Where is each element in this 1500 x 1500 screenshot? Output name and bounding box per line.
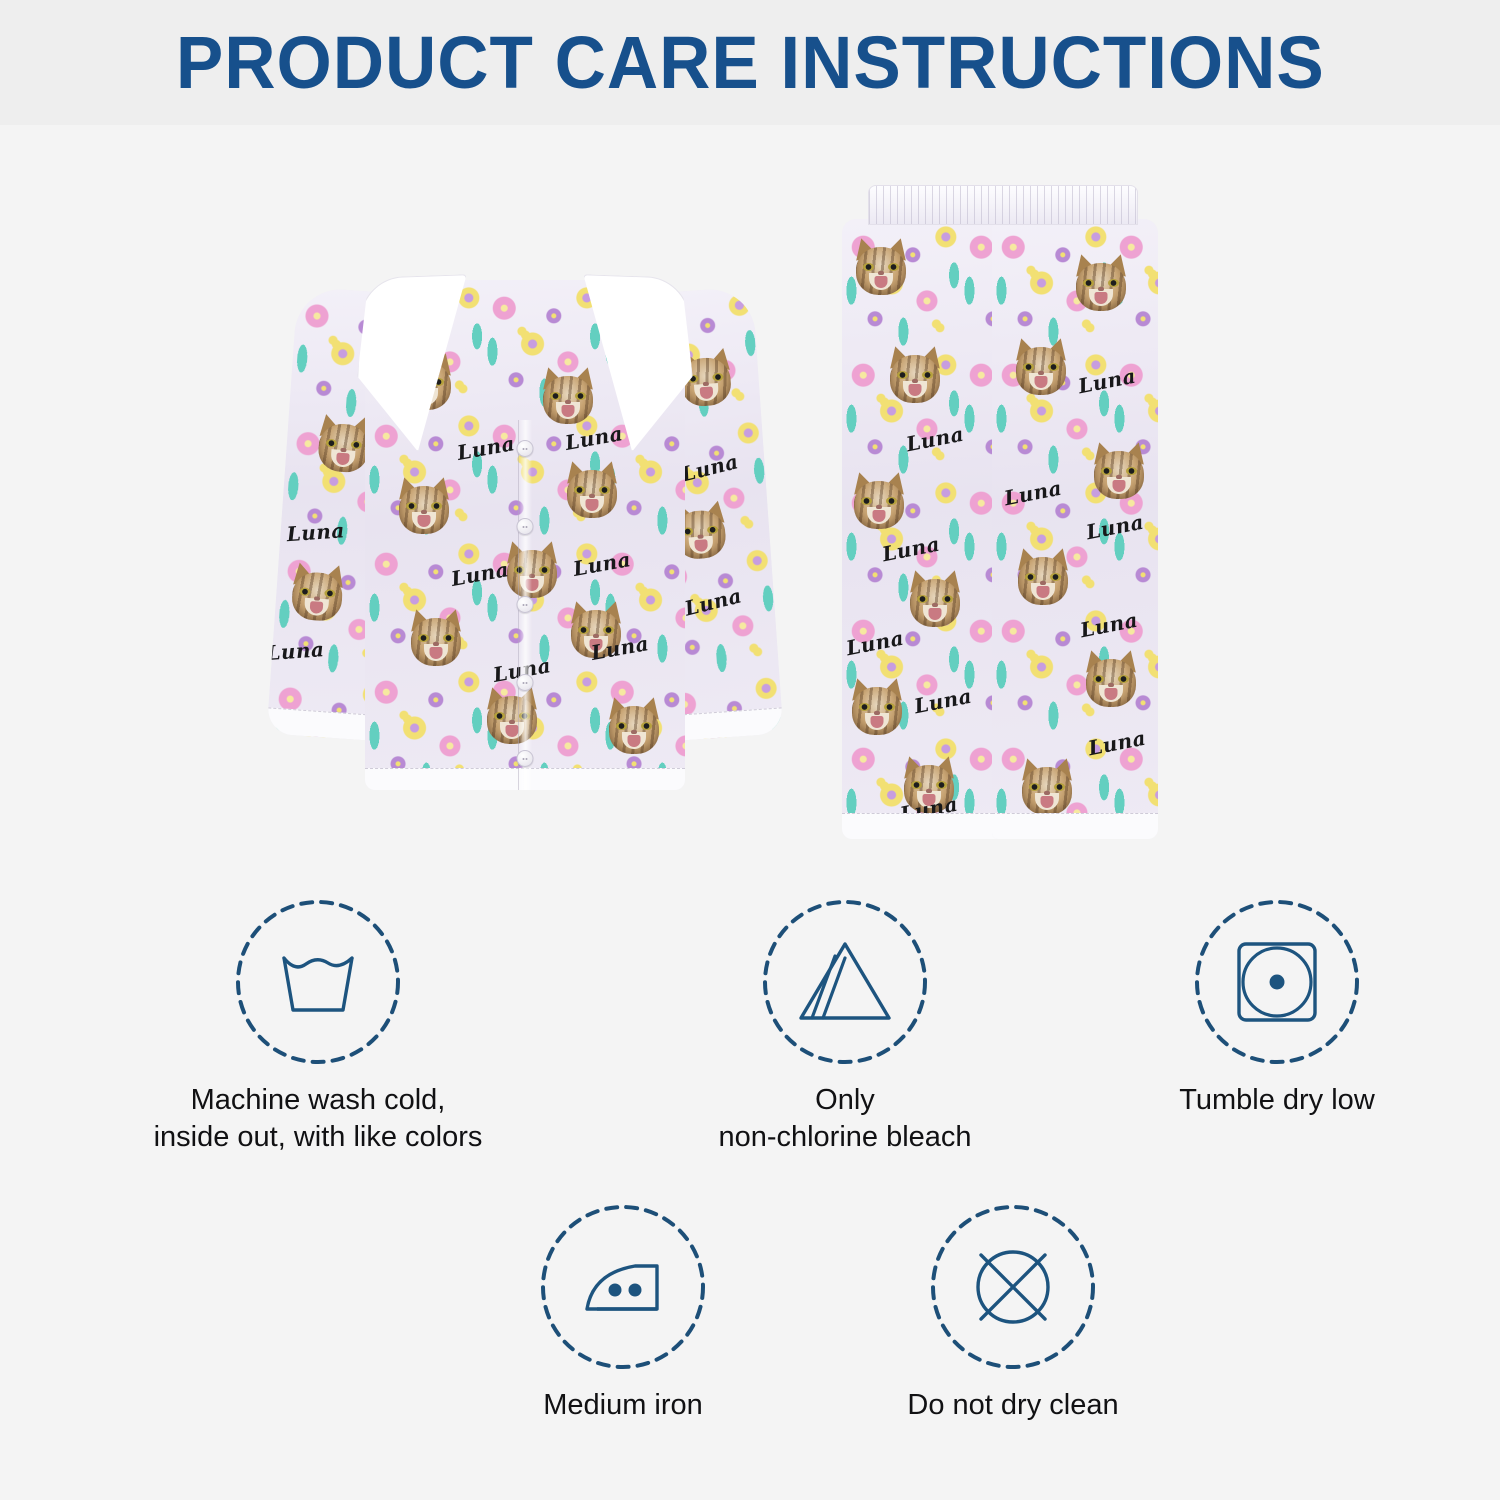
pet-name-label: Luna bbox=[1084, 510, 1146, 545]
pants-leg-right: Luna Luna Luna Luna Luna bbox=[992, 219, 1158, 839]
tabby-cat-face-icon bbox=[1016, 759, 1078, 817]
care-icon-ring bbox=[931, 1205, 1095, 1369]
tabby-cat-face-icon bbox=[405, 610, 467, 668]
pants-leg-left: Luna Luna Luna Luna Luna bbox=[842, 219, 1008, 839]
pet-name-label: Luna bbox=[1076, 364, 1138, 399]
pet-name-label: Luna bbox=[455, 431, 516, 465]
pet-name-label: Luna bbox=[880, 532, 942, 567]
tabby-cat-face-icon bbox=[393, 478, 455, 536]
tabby-cat-face-icon bbox=[904, 571, 966, 629]
care-icon-ring bbox=[1195, 900, 1359, 1064]
page-title: PRODUCT CARE INSTRUCTIONS bbox=[176, 20, 1325, 105]
pet-name-label: Luna bbox=[286, 518, 346, 546]
tabby-cat-face-icon bbox=[284, 562, 350, 624]
care-icon-ring bbox=[236, 900, 400, 1064]
care-instruction-machine-wash: Machine wash cold, inside out, with like… bbox=[0, 900, 636, 1156]
tabby-cat-face-icon bbox=[1088, 443, 1150, 501]
pet-name-label: Luna bbox=[267, 637, 326, 665]
care-icon-ring bbox=[541, 1205, 705, 1369]
care-instruction-non-chlorine-bleach: Only non-chlorine bleach bbox=[636, 900, 1054, 1156]
care-instruction-label: Machine wash cold, inside out, with like… bbox=[154, 1082, 483, 1156]
tabby-cat-face-icon bbox=[481, 688, 543, 746]
shirt-button bbox=[517, 440, 534, 457]
tabby-cat-face-icon bbox=[561, 462, 623, 520]
page-header: PRODUCT CARE INSTRUCTIONS bbox=[0, 0, 1500, 125]
tabby-cat-face-icon bbox=[846, 679, 908, 737]
pajama-pants: Luna Luna Luna Luna Luna Luna Luna Luna … bbox=[820, 185, 1180, 850]
tabby-cat-face-icon bbox=[1012, 549, 1074, 607]
care-instruction-label: Tumble dry low bbox=[1179, 1082, 1375, 1119]
medium-iron-icon bbox=[541, 1205, 705, 1369]
pants-hem-left bbox=[842, 813, 1008, 839]
care-instructions-row-top: Machine wash cold, inside out, with like… bbox=[0, 900, 1500, 1156]
tabby-cat-face-icon bbox=[1010, 339, 1072, 397]
product-image-area: Luna Luna Luna Luna bbox=[0, 125, 1500, 885]
tabby-cat-face-icon bbox=[1070, 255, 1132, 313]
care-instruction-tumble-dry-low: Tumble dry low bbox=[1054, 900, 1500, 1156]
shirt-button bbox=[517, 596, 534, 613]
tabby-cat-face-icon bbox=[603, 698, 665, 756]
care-instruction-label: Do not dry clean bbox=[907, 1387, 1118, 1424]
care-instructions-row-bottom: Medium iron Do not dry clean bbox=[0, 1205, 1500, 1424]
pajama-top: Luna Luna Luna Luna bbox=[280, 250, 770, 815]
pet-name-label: Luna bbox=[1002, 476, 1064, 511]
pet-name-label: Luna bbox=[912, 684, 974, 719]
do-not-dry-clean-icon bbox=[931, 1205, 1095, 1369]
wash-basin-icon bbox=[236, 900, 400, 1064]
pet-name-label: Luna bbox=[571, 547, 632, 581]
pet-name-label: Luna bbox=[904, 422, 966, 457]
tabby-cat-face-icon bbox=[848, 473, 910, 531]
shirt-button bbox=[517, 750, 534, 767]
shirt-button bbox=[517, 674, 534, 691]
pet-name-label: Luna bbox=[1078, 608, 1140, 643]
care-instruction-label: Only non-chlorine bleach bbox=[718, 1082, 971, 1156]
pet-name-label: Luna bbox=[679, 449, 741, 486]
pet-name-label: Luna bbox=[563, 421, 624, 455]
care-icon-ring bbox=[763, 900, 927, 1064]
shirt-button bbox=[517, 518, 534, 535]
pet-name-label: Luna bbox=[682, 583, 744, 620]
tabby-cat-face-icon bbox=[501, 542, 563, 600]
tumble-dry-low-icon bbox=[1195, 900, 1359, 1064]
pet-name-label: Luna bbox=[1086, 726, 1148, 761]
tabby-cat-face-icon bbox=[537, 368, 599, 426]
care-instruction-label: Medium iron bbox=[543, 1387, 703, 1424]
tabby-cat-face-icon bbox=[1080, 651, 1142, 709]
pants-hem-right bbox=[992, 813, 1158, 839]
care-instruction-do-not-dry-clean: Do not dry clean bbox=[818, 1205, 1208, 1424]
pants-elastic-waistband bbox=[868, 185, 1138, 225]
non-chlorine-bleach-triangle-icon bbox=[763, 900, 927, 1064]
tabby-cat-face-icon bbox=[884, 347, 946, 405]
care-instruction-medium-iron: Medium iron bbox=[428, 1205, 818, 1424]
pet-name-label: Luna bbox=[844, 626, 906, 661]
tabby-cat-face-icon bbox=[850, 239, 912, 297]
